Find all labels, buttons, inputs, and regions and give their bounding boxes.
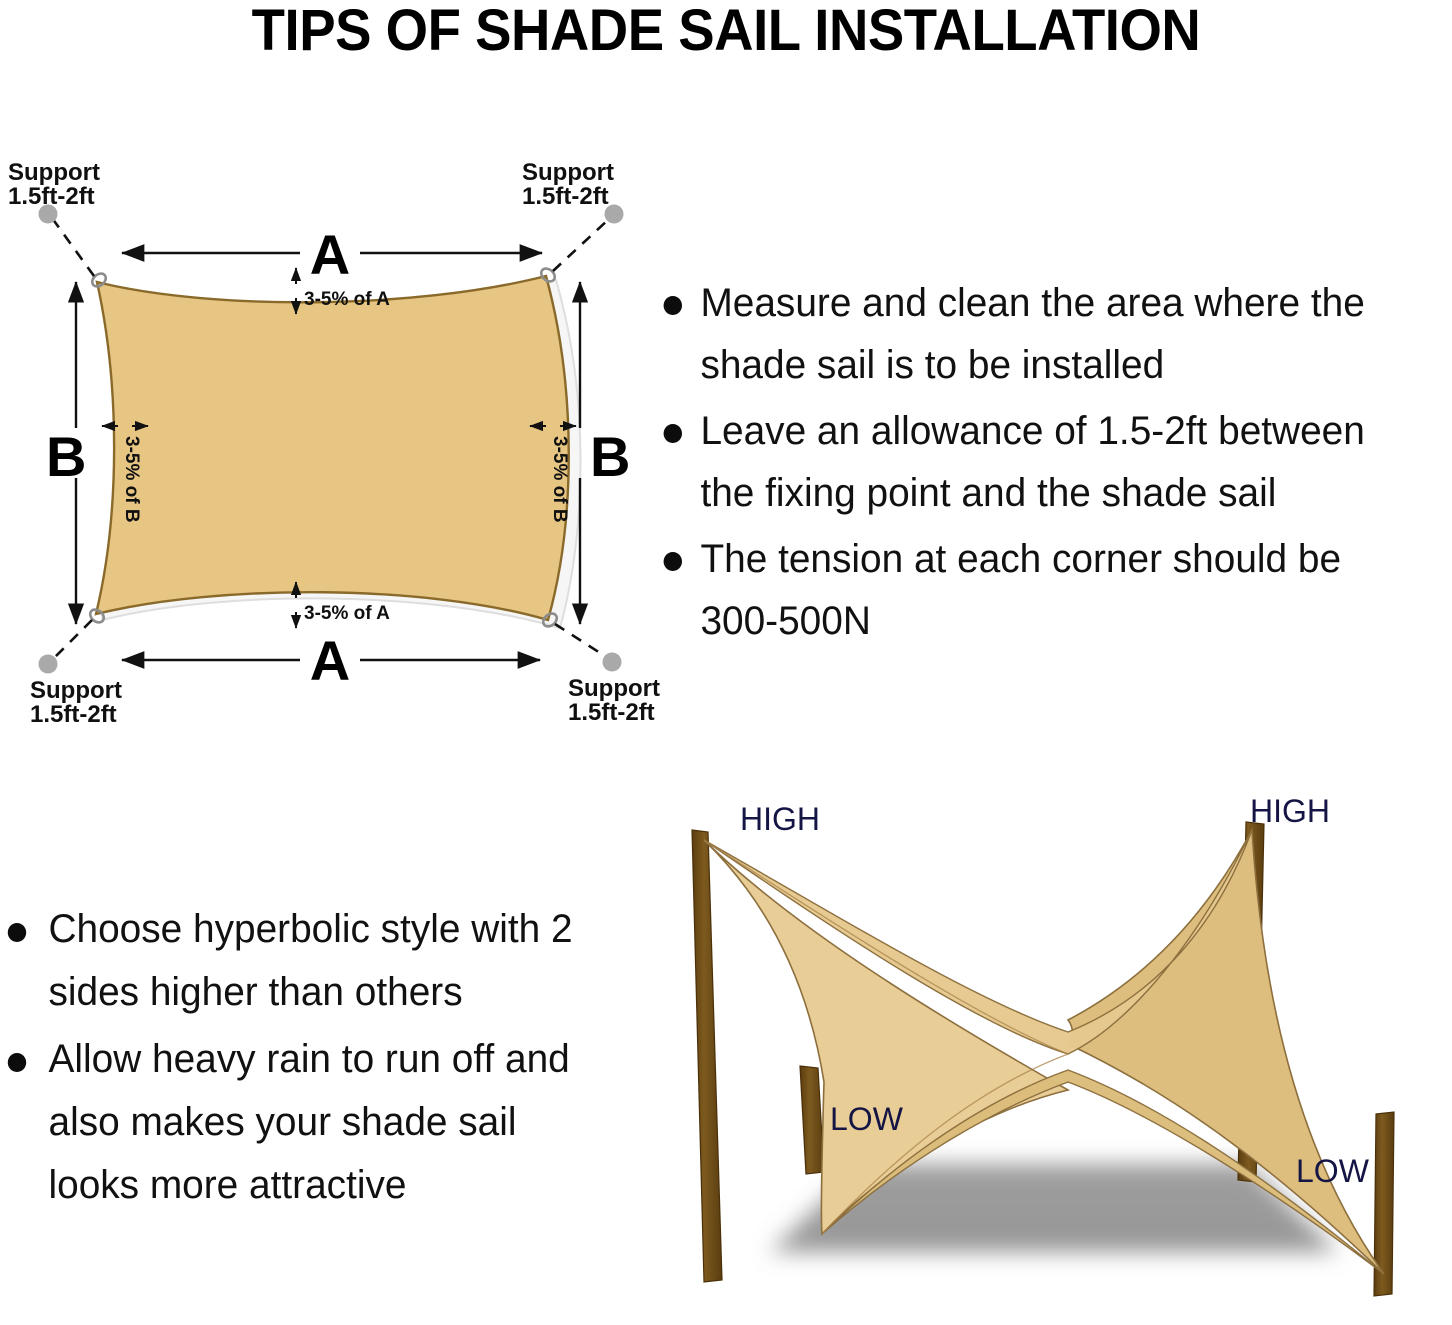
list-item-text: The tension at each corner should be 300…: [700, 537, 1341, 643]
support-label-top-right: Support 1.5ft-2ft: [522, 159, 614, 210]
support-label-bottom-right: Support 1.5ft-2ft: [568, 675, 660, 726]
support-dot-bottom-left: [39, 655, 58, 674]
label-high-right: HIGH: [1250, 793, 1330, 829]
support-label-top-left: Support 1.5ft-2ft: [8, 159, 100, 210]
installation-tips-upper-list: Measure and clean the area where the sha…: [650, 272, 1452, 656]
curvature-label-left: 3-5% of B: [121, 436, 142, 523]
list-item: Choose hyperbolic style with 2 sides hig…: [0, 898, 606, 1024]
rectangle-sail-diagram: Support 1.5ft-2ft Support 1.5ft-2ft Supp…: [0, 158, 660, 738]
support-label-line1: Support: [568, 675, 660, 702]
curvature-label-right: 3-5% of B: [549, 436, 570, 523]
support-dot-bottom-right: [603, 653, 622, 672]
list-item: Allow heavy rain to run off and also mak…: [0, 1028, 606, 1217]
support-label-line2: 1.5ft-2ft: [30, 701, 117, 728]
curvature-label-bottom: 3-5% of A: [304, 603, 390, 624]
bullet-dot-icon: [664, 552, 682, 571]
dimension-label-a-bottom: A: [310, 629, 350, 692]
dimension-label-b-left: B: [46, 425, 86, 488]
hyperbolic-sail-diagram: HIGH HIGH LOW LOW: [648, 782, 1452, 1325]
label-high-left: HIGH: [740, 801, 820, 837]
list-item-text: Measure and clean the area where the sha…: [700, 281, 1364, 387]
post-front-left: [800, 1066, 824, 1174]
post-back-left: [692, 830, 722, 1282]
bullet-dot-icon: [664, 296, 682, 315]
curvature-label-top: 3-5% of A: [304, 289, 390, 310]
bullet-dot-icon: [664, 424, 682, 443]
list-item: The tension at each corner should be 300…: [650, 528, 1428, 652]
label-low-left: LOW: [830, 1101, 904, 1137]
list-item-text: Choose hyperbolic style with 2 sides hig…: [49, 907, 573, 1014]
infographic-page: TIPS OF SHADE SAIL INSTALLATION: [0, 0, 1452, 1325]
bullet-list-lower: Choose hyperbolic style with 2 sides hig…: [0, 898, 625, 1217]
support-label-line1: Support: [522, 159, 614, 186]
label-low-right: LOW: [1296, 1153, 1370, 1189]
support-label-line2: 1.5ft-2ft: [8, 183, 95, 210]
bullet-list-upper: Measure and clean the area where the sha…: [650, 272, 1452, 652]
support-label-bottom-left: Support 1.5ft-2ft: [30, 677, 122, 728]
list-item: Measure and clean the area where the sha…: [650, 272, 1428, 396]
bullet-dot-icon: [8, 1053, 26, 1072]
list-item-text: Leave an allowance of 1.5-2ft between th…: [700, 409, 1364, 515]
dimension-label-a-top: A: [310, 223, 350, 286]
page-title: TIPS OF SHADE SAIL INSTALLATION: [44, 0, 1409, 62]
shade-sail-shape: [96, 276, 569, 620]
list-item-text: Allow heavy rain to run off and also mak…: [49, 1037, 570, 1207]
dimension-label-b-right: B: [590, 425, 630, 488]
bullet-dot-icon: [8, 923, 26, 942]
support-label-line2: 1.5ft-2ft: [568, 699, 655, 726]
installation-tips-lower-list: Choose hyperbolic style with 2 sides hig…: [0, 898, 625, 1221]
support-label-line1: Support: [8, 159, 100, 186]
list-item: Leave an allowance of 1.5-2ft between th…: [650, 400, 1428, 524]
support-label-line2: 1.5ft-2ft: [522, 183, 609, 210]
support-label-line1: Support: [30, 677, 122, 704]
